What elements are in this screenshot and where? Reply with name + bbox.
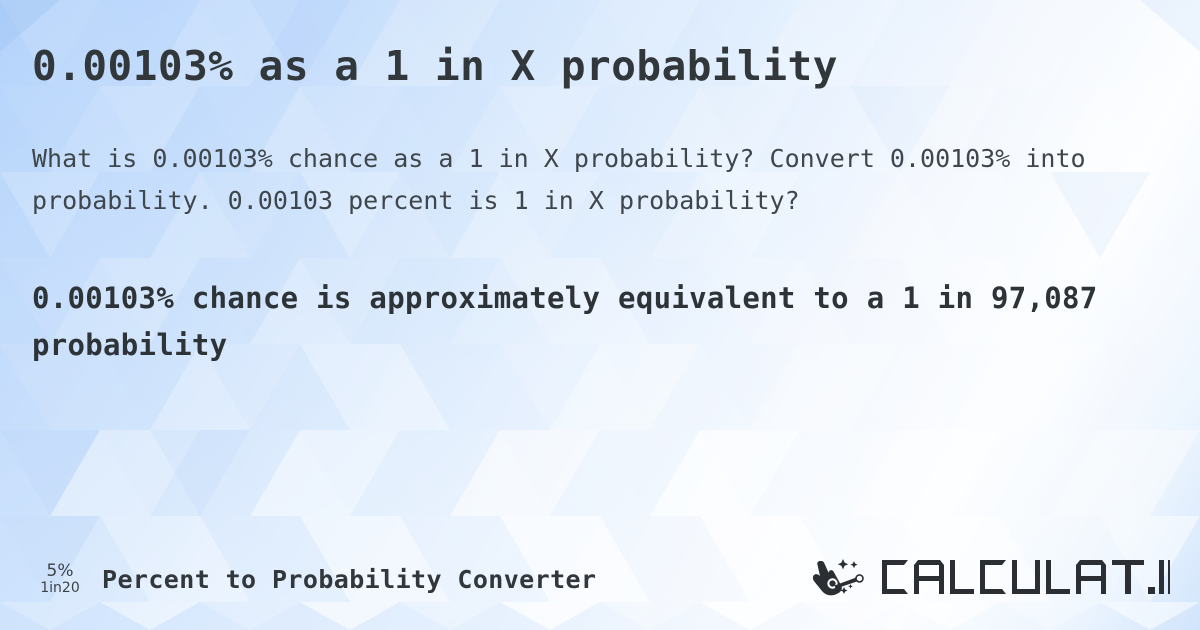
card-content: 0.00103% as a 1 in X probability What is…	[0, 0, 1200, 630]
percent-to-probability-badge-icon: 5% 1in20	[32, 563, 88, 596]
badge-percent-label: 5%	[47, 563, 74, 581]
tool-name-label: Percent to Probability Converter	[102, 565, 596, 594]
magic-wand-hand-icon	[810, 555, 872, 603]
card-footer: 5% 1in20 Percent to Probability Converte…	[0, 554, 1200, 604]
intro-paragraph: What is 0.00103% chance as a 1 in X prob…	[32, 90, 1112, 221]
badge-oneinx-label: 1in20	[40, 581, 79, 596]
share-card: 0.00103% as a 1 in X probability What is…	[0, 0, 1200, 630]
brand-wordmark	[878, 556, 1170, 602]
footer-left-group: 5% 1in20 Percent to Probability Converte…	[32, 563, 596, 596]
answer-statement: 0.00103% chance is approximately equival…	[32, 221, 1168, 368]
brand-logo[interactable]	[810, 555, 1170, 603]
page-title: 0.00103% as a 1 in X probability	[32, 34, 1168, 90]
